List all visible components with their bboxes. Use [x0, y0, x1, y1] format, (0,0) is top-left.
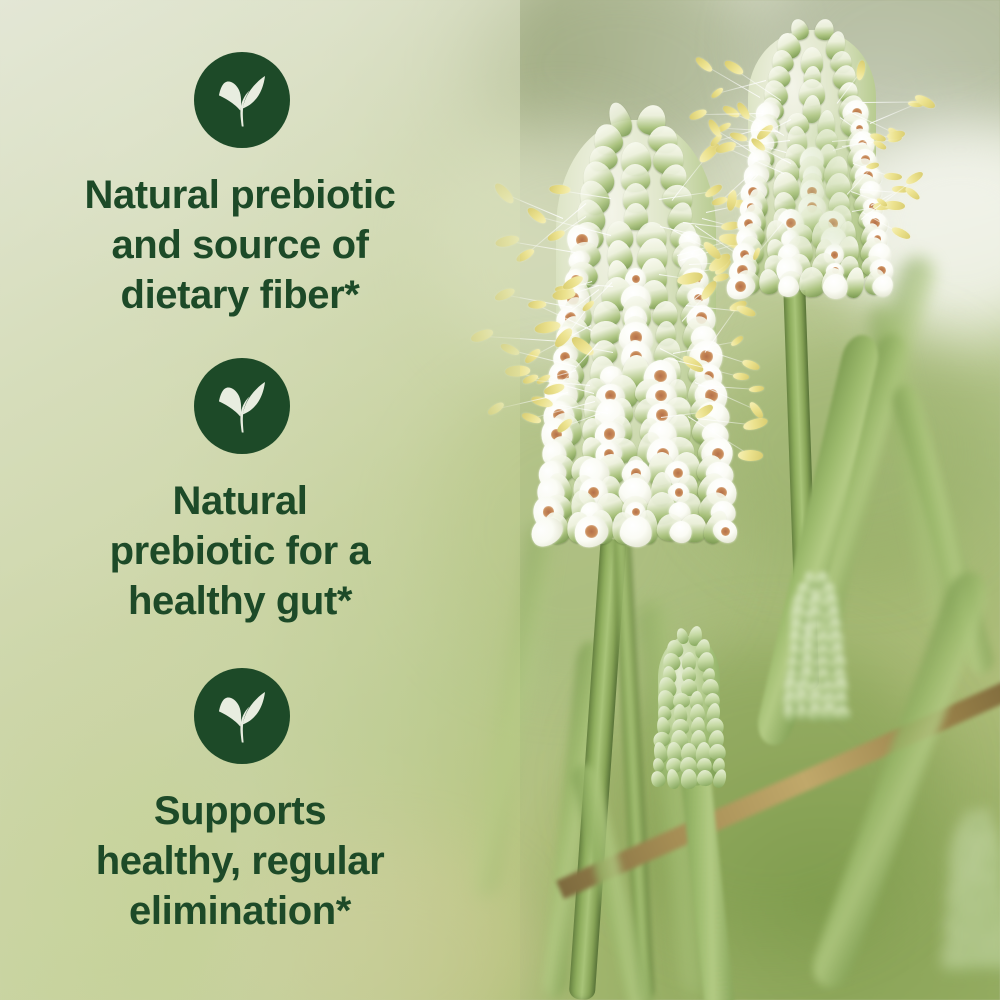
- floret-center: [632, 508, 640, 516]
- stamen-anther: [729, 335, 744, 348]
- benefit-line: elimination*: [20, 886, 460, 936]
- stamen-filament: [862, 101, 924, 102]
- benefit-line: healthy gut*: [20, 576, 460, 626]
- floret-center: [585, 525, 598, 538]
- floret-center: [673, 468, 682, 477]
- stamen-anther: [494, 233, 520, 248]
- stamen-anther: [710, 86, 725, 100]
- stamen-anther: [738, 449, 763, 460]
- stamen-anther: [884, 173, 902, 182]
- stamen-anther: [913, 92, 936, 110]
- flower-bud-spike: [950, 820, 1000, 970]
- flower-bud-spike: [790, 580, 842, 720]
- floret-center: [656, 409, 667, 420]
- flower-bud-spike: [800, 120, 846, 240]
- stamen-anther: [514, 246, 536, 264]
- stamen-anther: [525, 206, 548, 227]
- benefit-text-1: Natural prebiotic and source of dietary …: [20, 170, 460, 320]
- stamen-anther: [742, 416, 769, 433]
- stamen-anther: [499, 342, 521, 358]
- stamen-anther: [741, 358, 761, 372]
- stamen-filament: [870, 104, 916, 124]
- stamen-anther: [732, 372, 749, 380]
- stamen-anther: [549, 184, 571, 194]
- flower-spike-left: [556, 120, 716, 540]
- stamen-anther: [904, 185, 922, 201]
- benefit-line: Natural: [20, 476, 460, 526]
- stamen-anther: [905, 170, 925, 187]
- benefit-text-3: Supports healthy, regular elimination*: [20, 786, 460, 936]
- benefit-text-2: Natural prebiotic for a healthy gut*: [20, 476, 460, 626]
- benefit-line: healthy, regular: [20, 836, 460, 886]
- benefit-line: Natural prebiotic: [20, 170, 460, 220]
- stamen-anther: [890, 225, 911, 241]
- benefit-item-1: Natural prebiotic and source of dietary …: [0, 52, 480, 320]
- benefits-list: Natural prebiotic and source of dietary …: [0, 0, 480, 1000]
- stamen-anther: [521, 411, 542, 425]
- benefit-line: prebiotic for a: [20, 526, 460, 576]
- infographic-canvas: Natural prebiotic and source of dietary …: [0, 0, 1000, 1000]
- stamen-filament: [482, 336, 563, 342]
- stamen-anther: [492, 180, 517, 206]
- benefit-item-3: Supports healthy, regular elimination*: [0, 668, 480, 936]
- benefit-line: dietary fiber*: [20, 270, 460, 320]
- stamen-anther: [749, 385, 764, 393]
- floret-center: [735, 281, 746, 292]
- stamen-anther: [694, 55, 715, 74]
- flower-bud-spike: [658, 636, 720, 786]
- background-leaf: [470, 520, 555, 899]
- stamen-anther: [486, 400, 505, 416]
- sprout-leaves-icon: [194, 668, 290, 764]
- bud-scale: [696, 770, 713, 787]
- benefit-line: Supports: [20, 786, 460, 836]
- benefit-line: and source of: [20, 220, 460, 270]
- stamen-anther: [493, 286, 516, 303]
- sprout-leaves-icon: [194, 358, 290, 454]
- sprout-leaves-icon: [194, 52, 290, 148]
- benefit-item-2: Natural prebiotic for a healthy gut*: [0, 358, 480, 626]
- stamen-anther: [735, 304, 757, 319]
- stamen-anther: [748, 400, 766, 420]
